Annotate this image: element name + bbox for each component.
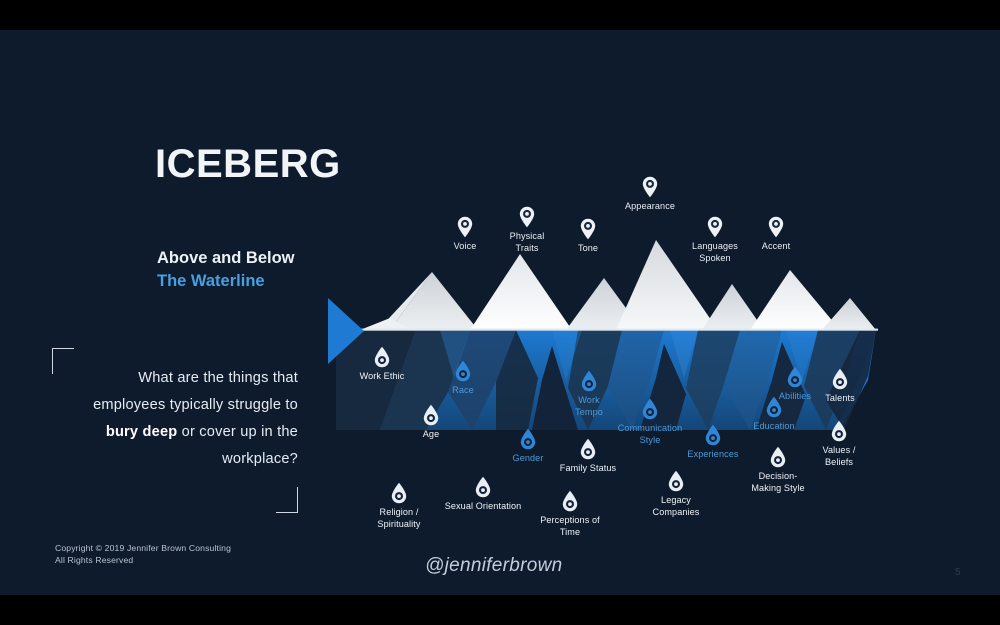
water-drop-icon bbox=[581, 370, 597, 392]
marker-label: Age bbox=[371, 428, 491, 440]
marker-label: Communication Style bbox=[590, 422, 710, 446]
social-handle: @jenniferbrown bbox=[425, 555, 563, 577]
page-title: ICEBERG bbox=[155, 142, 341, 187]
subtitle-line-2: The Waterline bbox=[157, 270, 295, 293]
water-drop-icon bbox=[374, 346, 390, 368]
slide-canvas: VoicePhysical TraitsToneAppearanceLangua… bbox=[0, 30, 1000, 595]
slide-frame: VoicePhysical TraitsToneAppearanceLangua… bbox=[0, 0, 1000, 625]
page-number: 5 bbox=[955, 567, 961, 578]
subtitle-line-1: Above and Below bbox=[157, 247, 295, 270]
marker-label: Family Status bbox=[528, 462, 648, 474]
subtitle: Above and Below The Waterline bbox=[157, 247, 295, 293]
below-water-marker-layer: Work EthicRaceAgeGenderReligion / Spirit… bbox=[320, 130, 890, 430]
water-drop-icon bbox=[423, 404, 439, 426]
letterbox-top bbox=[0, 0, 1000, 30]
copyright-notice: Copyright © 2019 Jennifer Brown Consulti… bbox=[55, 542, 231, 567]
marker-label: Work Ethic bbox=[322, 370, 442, 382]
marker-label: Experiences bbox=[653, 448, 773, 460]
water-drop-icon bbox=[787, 366, 803, 388]
water-drop-icon bbox=[455, 360, 471, 382]
marker-label: Sexual Orientation bbox=[423, 500, 543, 512]
water-drop-icon bbox=[475, 476, 491, 498]
quote-prefix: What are the things that employees typic… bbox=[93, 370, 298, 413]
marker-label: Values / Beliefs bbox=[779, 444, 899, 468]
water-drop-icon bbox=[831, 420, 847, 442]
marker-label: Decision- Making Style bbox=[718, 470, 838, 494]
quote-emphasis: bury deep bbox=[106, 424, 178, 440]
bracket-top-left bbox=[52, 348, 74, 374]
copyright-line-2: All Rights Reserved bbox=[55, 554, 231, 566]
water-drop-icon bbox=[391, 482, 407, 504]
bracket-bottom-right bbox=[276, 487, 298, 513]
marker-label: Education bbox=[714, 420, 834, 432]
marker-label: Race bbox=[403, 384, 523, 396]
water-drop-icon bbox=[520, 428, 536, 450]
water-drop-icon bbox=[562, 490, 578, 512]
marker-label: Talents bbox=[780, 392, 900, 404]
marker-label: Perceptions of Time bbox=[510, 514, 630, 538]
letterbox-bottom bbox=[0, 595, 1000, 625]
copyright-line-1: Copyright © 2019 Jennifer Brown Consulti… bbox=[55, 542, 231, 554]
marker-label: Legacy Companies bbox=[616, 494, 736, 518]
marker-label: Work Tempo bbox=[529, 394, 649, 418]
quote-callout: What are the things that employees typic… bbox=[48, 348, 298, 513]
water-drop-icon bbox=[642, 398, 658, 420]
quote-text: What are the things that employees typic… bbox=[78, 365, 298, 474]
water-drop-icon bbox=[668, 470, 684, 492]
quote-suffix: or cover up in the workplace? bbox=[177, 424, 298, 467]
water-drop-icon bbox=[832, 368, 848, 390]
